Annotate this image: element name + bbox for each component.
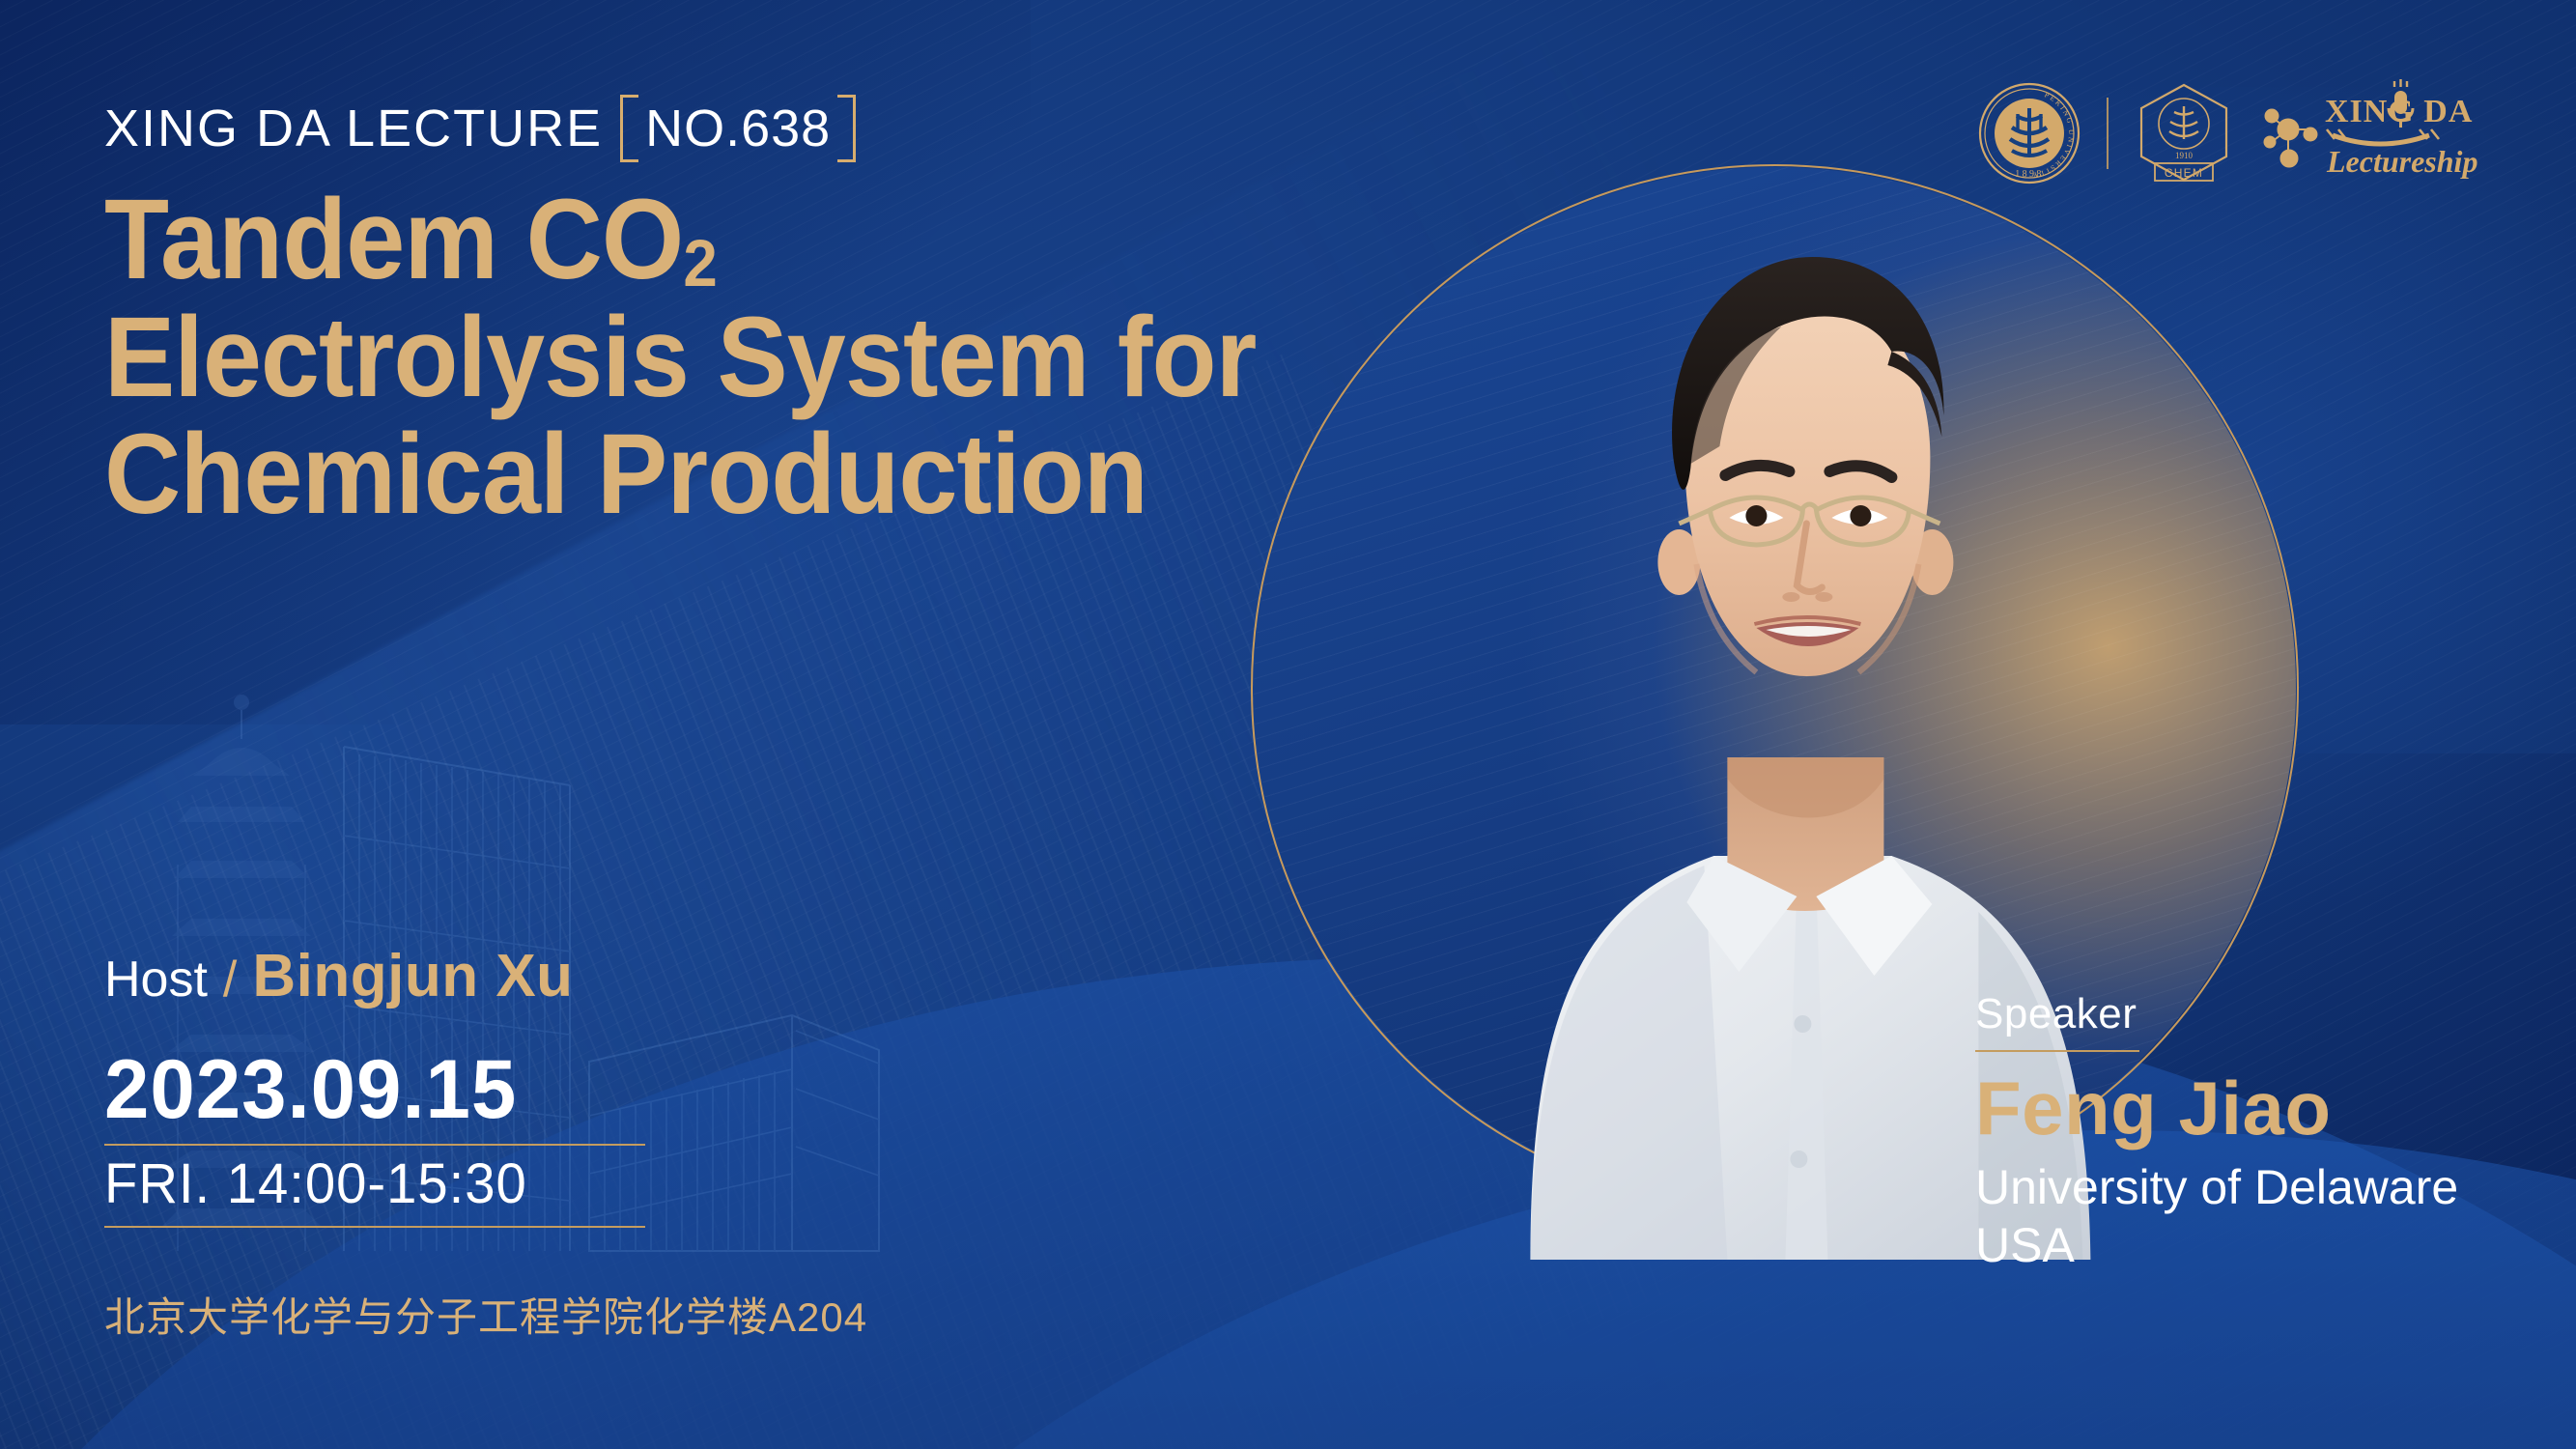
speaker-name: Feng Jiao (1975, 1069, 2516, 1149)
kicker-label: XING DA LECTURE (104, 99, 603, 158)
title-line-1: Tandem CO2 (104, 182, 1209, 299)
host-label: Host (104, 951, 208, 1009)
speaker-info-block: Speaker Feng Jiao University of Delaware… (1975, 990, 2516, 1274)
lecture-venue: 北京大学化学与分子工程学院化学楼A204 (104, 1285, 867, 1344)
host-block: Host / Bingjun Xu (104, 942, 574, 1010)
speaker-affiliation-line-2: USA (1975, 1216, 2516, 1274)
host-name: Bingjun Xu (252, 942, 573, 1010)
schedule-rule-top (104, 1144, 645, 1146)
co2-subscript: 2 (683, 226, 716, 300)
lecture-date: 2023.09.15 (104, 1046, 629, 1134)
title-line-3: Chemical Production (104, 416, 1209, 534)
host-separator: / (223, 951, 237, 1009)
chem-year-text: 1910 (2175, 151, 2194, 160)
schedule-rule-bottom (104, 1226, 645, 1228)
lecture-poster: XING DA LECTURE NO.638 PEKING UNIVERSITY… (0, 0, 2576, 1449)
lecture-title: Tandem CO2 Electrolysis System for Chemi… (104, 182, 1209, 534)
issue-number-badge: NO.638 (620, 95, 856, 162)
speaker-affiliation: University of Delaware USA (1975, 1158, 2516, 1274)
speaker-rule (1975, 1050, 2139, 1052)
title-line-2: Electrolysis System for (104, 299, 1209, 417)
lectureship-script-text: Lectureship (2326, 144, 2477, 179)
speaker-affiliation-line-1: University of Delaware (1975, 1158, 2516, 1216)
schedule-block: 2023.09.15 FRI. 14:00-15:30 (104, 1046, 645, 1236)
lecture-series-kicker: XING DA LECTURE NO.638 (104, 95, 856, 162)
lecture-time: FRI. 14:00-15:30 (104, 1153, 629, 1216)
speaker-label: Speaker (1975, 990, 2516, 1038)
